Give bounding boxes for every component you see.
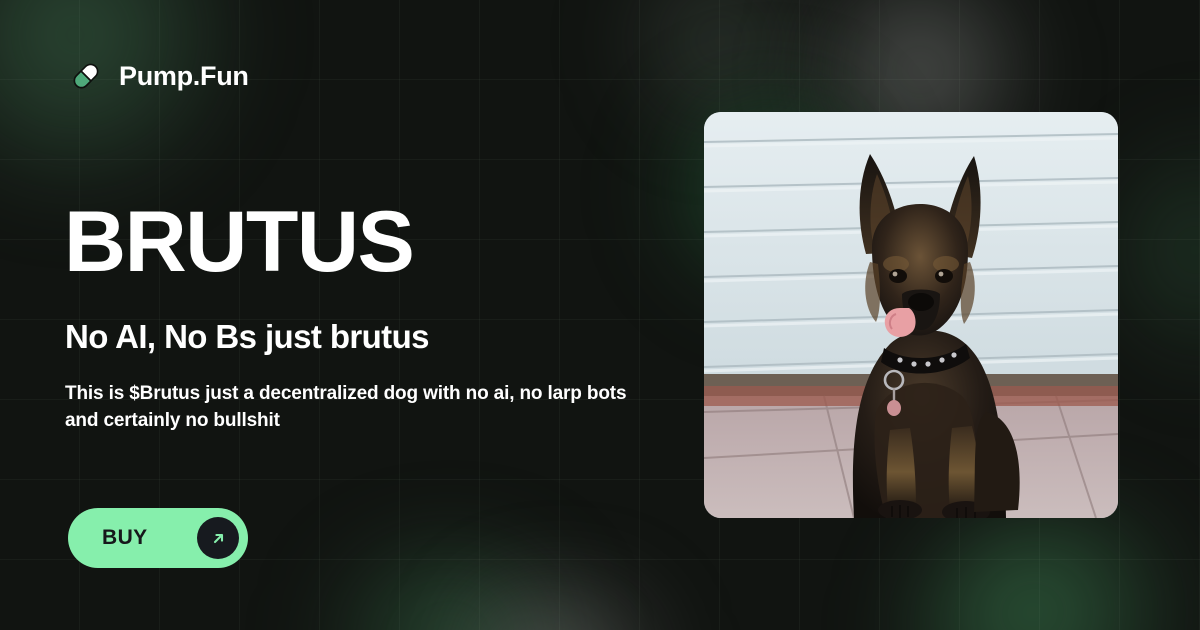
buy-button[interactable]: BUY xyxy=(68,508,248,568)
arrow-up-right-icon xyxy=(197,517,239,559)
capsule-pill-icon xyxy=(68,58,104,94)
content-layer: Pump.Fun BRUTUS No AI, No Bs just brutus… xyxy=(0,0,1200,630)
page-description: This is $Brutus just a decentralized dog… xyxy=(65,381,645,435)
buy-button-label: BUY xyxy=(102,526,148,550)
brand-name: Pump.Fun xyxy=(119,61,249,92)
brand-logo-group[interactable]: Pump.Fun xyxy=(68,58,249,94)
og-card-stage: Pump.Fun BRUTUS No AI, No Bs just brutus… xyxy=(0,0,1200,630)
german-shepherd-puppy-photo xyxy=(704,112,1118,518)
page-subtitle: No AI, No Bs just brutus xyxy=(65,318,429,356)
page-title: BRUTUS xyxy=(64,200,413,284)
token-image-card xyxy=(704,112,1118,518)
